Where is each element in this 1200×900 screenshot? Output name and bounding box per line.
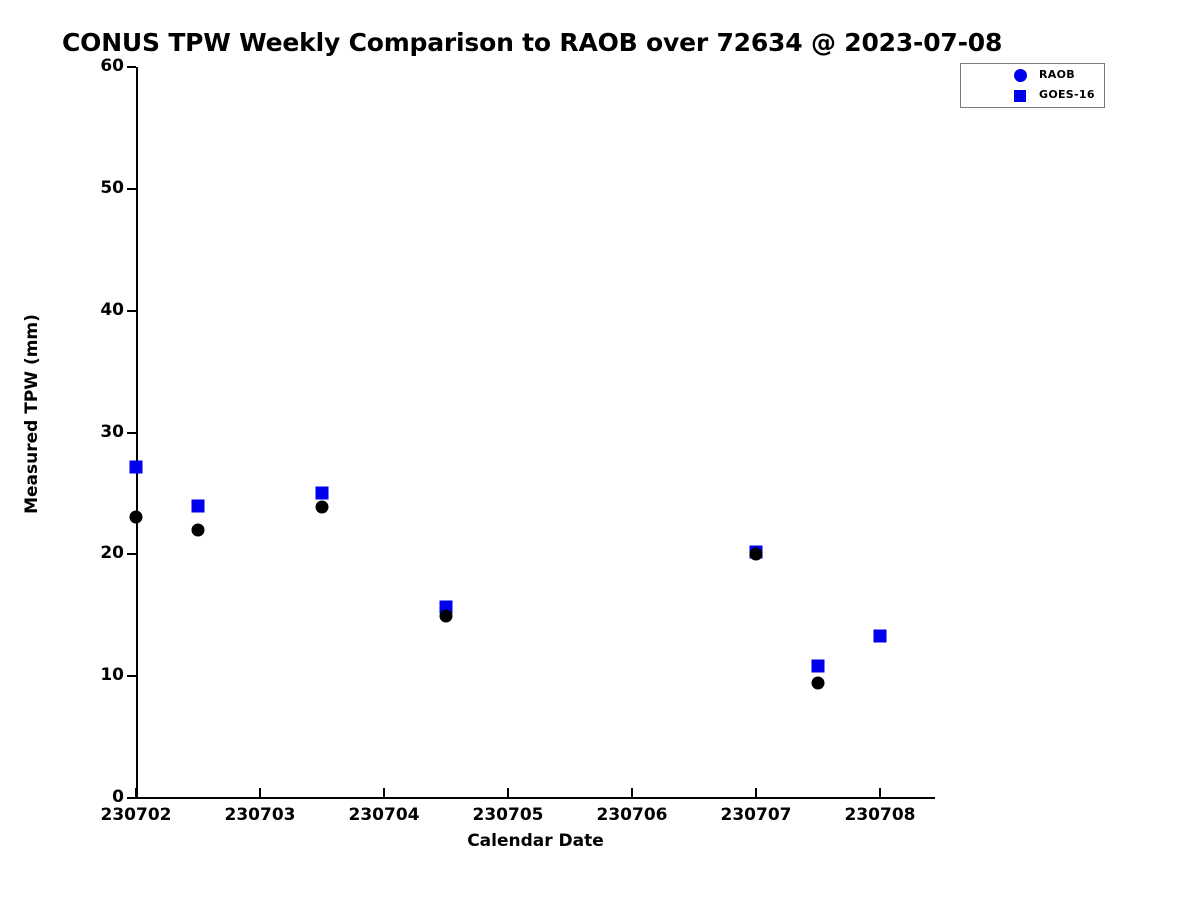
y-axis-label: Measured TPW (mm) — [22, 264, 42, 564]
data-point-goes16 — [874, 629, 887, 642]
data-point-goes16 — [316, 487, 329, 500]
legend: RAOBGOES-16 — [960, 63, 1105, 108]
x-tick-label: 230704 — [324, 805, 444, 825]
x-axis-label: Calendar Date — [136, 831, 935, 851]
x-tick-label: 230708 — [820, 805, 940, 825]
y-tick-label: 30 — [64, 422, 124, 442]
y-tick-mark — [127, 675, 136, 677]
data-point-raob — [440, 610, 453, 623]
plot-area — [136, 67, 935, 798]
chart-figure: CONUS TPW Weekly Comparison to RAOB over… — [0, 0, 1200, 900]
data-point-raob — [812, 677, 825, 690]
legend-square-icon — [1014, 90, 1026, 102]
y-tick-label: 60 — [64, 56, 124, 76]
page-title: CONUS TPW Weekly Comparison to RAOB over… — [62, 28, 1002, 57]
data-point-goes16 — [192, 499, 205, 512]
y-tick-label: 20 — [64, 543, 124, 563]
data-point-goes16 — [812, 660, 825, 673]
y-tick-mark — [127, 553, 136, 555]
legend-circle-icon — [1014, 69, 1027, 82]
data-point-goes16 — [130, 460, 143, 473]
x-tick-label: 230702 — [76, 805, 196, 825]
y-tick-label: 40 — [64, 300, 124, 320]
y-tick-label: 10 — [64, 665, 124, 685]
x-tick-label: 230705 — [448, 805, 568, 825]
y-tick-mark — [127, 66, 136, 68]
legend-label: GOES-16 — [1039, 88, 1095, 101]
y-tick-mark — [127, 310, 136, 312]
data-point-raob — [316, 500, 329, 513]
legend-item[interactable]: GOES-16 — [961, 86, 1104, 106]
y-tick-mark — [127, 432, 136, 434]
legend-item[interactable]: RAOB — [961, 66, 1104, 86]
y-tick-label: 0 — [64, 787, 124, 807]
data-point-raob — [750, 548, 763, 561]
x-tick-label: 230703 — [200, 805, 320, 825]
x-tick-label: 230707 — [696, 805, 816, 825]
y-tick-label: 50 — [64, 178, 124, 198]
y-tick-mark — [127, 188, 136, 190]
x-tick-label: 230706 — [572, 805, 692, 825]
legend-label: RAOB — [1039, 68, 1075, 81]
data-point-raob — [130, 510, 143, 523]
data-point-raob — [192, 523, 205, 536]
